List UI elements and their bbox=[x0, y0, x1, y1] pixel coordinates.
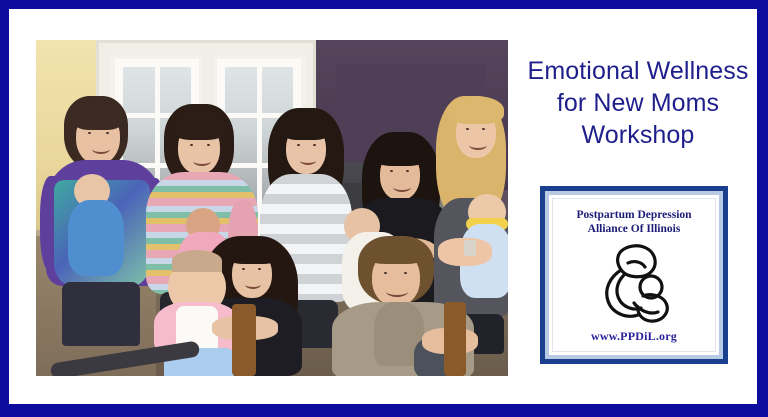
chair-back-right bbox=[444, 302, 466, 376]
title-line-3: Workshop bbox=[514, 119, 762, 151]
flyer-title: Emotional Wellness for New Moms Workshop bbox=[514, 55, 762, 151]
workshop-flyer: Emotional Wellness for New Moms Workshop… bbox=[0, 0, 768, 417]
logo-title-line-2: Alliance Of Illinois bbox=[576, 222, 691, 236]
baby-1-body bbox=[68, 200, 124, 276]
workshop-group-photo bbox=[36, 40, 508, 376]
title-line-1: Emotional Wellness bbox=[514, 55, 762, 87]
chair-back bbox=[232, 304, 256, 376]
ppdil-logo-box: Postpartum Depression Alliance Of Illino… bbox=[540, 186, 728, 364]
logo-inner-rule: Postpartum Depression Alliance Of Illino… bbox=[545, 191, 723, 359]
flyer-canvas: Emotional Wellness for New Moms Workshop… bbox=[9, 9, 757, 404]
logo-card: Postpartum Depression Alliance Of Illino… bbox=[552, 198, 716, 352]
title-line-2: for New Moms bbox=[514, 87, 762, 119]
photo-scene bbox=[36, 40, 508, 376]
logo-website-url: www.PPDiL.org bbox=[591, 329, 677, 344]
logo-organization-name: Postpartum Depression Alliance Of Illino… bbox=[576, 208, 691, 236]
mother-and-baby-icon bbox=[588, 241, 680, 325]
logo-title-line-1: Postpartum Depression bbox=[576, 208, 691, 222]
